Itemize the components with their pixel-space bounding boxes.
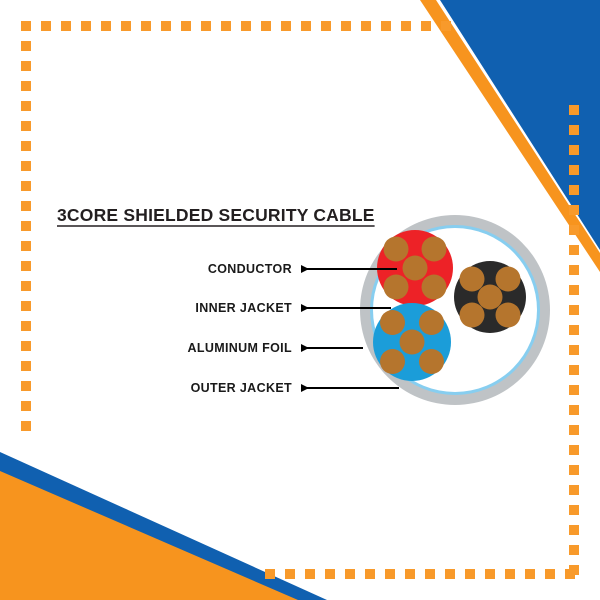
callout-label-conductor: CONDUCTOR xyxy=(208,262,292,276)
text-layer: 3CORE SHIELDED SECURITY CABLE CONDUCTORI… xyxy=(0,0,600,600)
cable-infographic: 3CORE SHIELDED SECURITY CABLE CONDUCTORI… xyxy=(0,0,600,600)
callout-label-aluminum-foil: ALUMINUM FOIL xyxy=(187,341,292,355)
page-title: 3CORE SHIELDED SECURITY CABLE xyxy=(57,205,375,225)
callout-label-outer-jacket: OUTER JACKET xyxy=(191,381,292,395)
callout-label-inner-jacket: INNER JACKET xyxy=(195,301,292,315)
